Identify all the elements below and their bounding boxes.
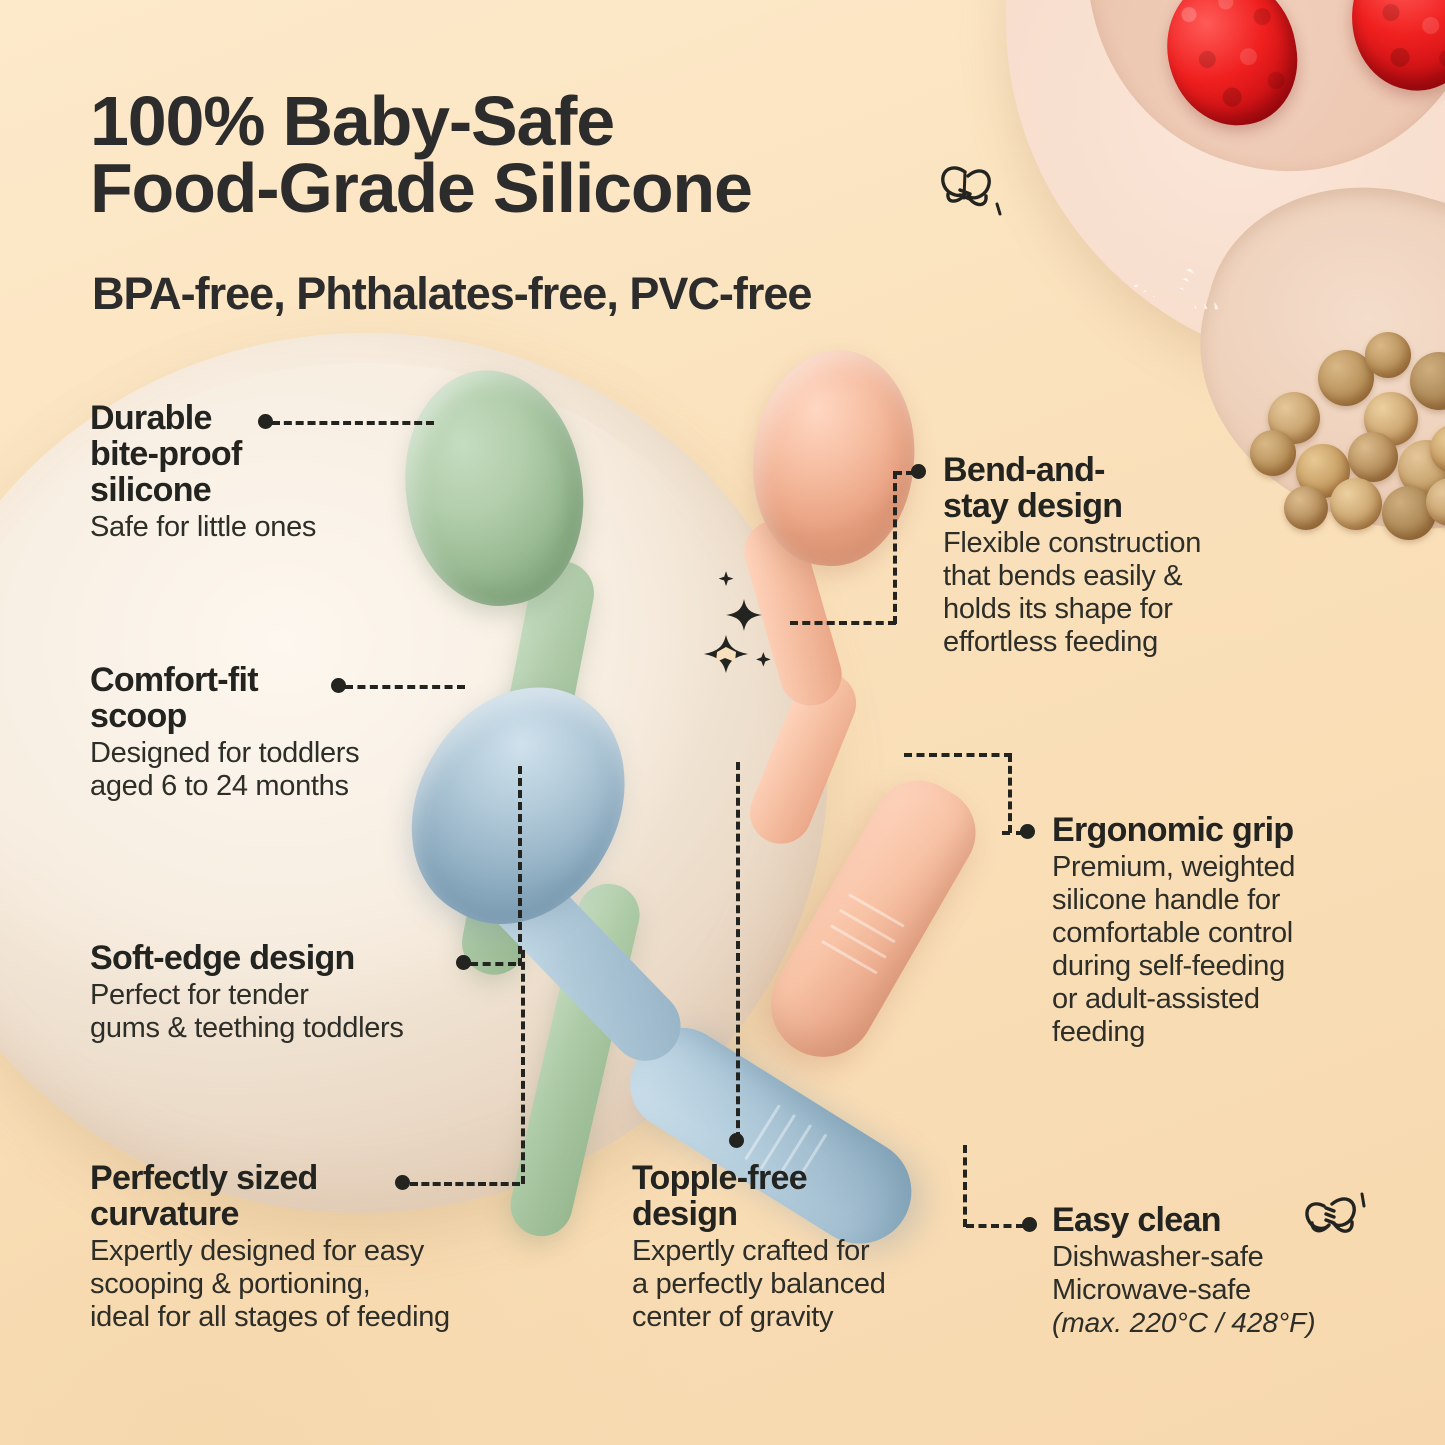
connector-line bbox=[904, 753, 1012, 757]
connector-line bbox=[966, 1224, 1024, 1228]
page-title: 100% Baby-Safe Food-Grade Silicone bbox=[90, 88, 752, 222]
connector-dot bbox=[1022, 1217, 1037, 1232]
feature-description: Safe for little ones bbox=[90, 511, 420, 544]
connector-line bbox=[272, 421, 434, 425]
connector-line bbox=[345, 685, 465, 689]
connector-line bbox=[790, 621, 896, 625]
connector-line bbox=[521, 950, 525, 1184]
feature-description: Dishwasher-safe Microwave-safe bbox=[1052, 1241, 1382, 1307]
feature-note: (max. 220°C / 428°F) bbox=[1052, 1307, 1382, 1339]
connector-line bbox=[963, 1145, 967, 1227]
connector-line bbox=[470, 962, 516, 966]
feature-topple-free-design: Topple-free design Expertly crafted for … bbox=[632, 1160, 962, 1334]
feature-description: Premium, weighted silicone handle for co… bbox=[1052, 851, 1382, 1049]
feature-title: Topple-free design bbox=[632, 1160, 962, 1232]
butterfly-icon bbox=[935, 160, 1005, 231]
connector-dot bbox=[331, 678, 346, 693]
cereal-puff bbox=[1348, 432, 1398, 482]
connector-dot bbox=[258, 414, 273, 429]
connector-line bbox=[518, 766, 522, 966]
feature-title: Soft-edge design bbox=[90, 940, 510, 976]
connector-dot bbox=[395, 1175, 410, 1190]
feature-description: Flexible construction that bends easily … bbox=[943, 527, 1273, 659]
feature-comfort-fit-scoop: Comfort-fit scoop Designed for toddlers … bbox=[90, 662, 430, 803]
cereal-puff bbox=[1365, 332, 1411, 378]
feature-easy-clean: Easy clean Dishwasher-safe Microwave-saf… bbox=[1052, 1202, 1382, 1339]
feature-title: Comfort-fit scoop bbox=[90, 662, 430, 734]
feature-title: Easy clean bbox=[1052, 1202, 1382, 1238]
connector-dot bbox=[456, 955, 471, 970]
cereal-puff bbox=[1330, 478, 1382, 530]
connector-line bbox=[1002, 831, 1024, 835]
connector-line bbox=[893, 471, 897, 624]
headline-line-1: 100% Baby-Safe bbox=[90, 88, 752, 155]
feature-title: Bend-and- stay design bbox=[943, 452, 1273, 524]
sparkle-icon bbox=[700, 565, 796, 675]
headline-subtitle: BPA-free, Phthalates-free, PVC-free bbox=[92, 268, 811, 320]
cereal-puff bbox=[1284, 486, 1328, 530]
feature-description: Expertly designed for easy scooping & po… bbox=[90, 1235, 560, 1334]
connector-line bbox=[1008, 754, 1012, 833]
feature-perfectly-sized-curvature: Perfectly sized curvature Expertly desig… bbox=[90, 1160, 560, 1334]
feature-description: Perfect for tender gums & teething toddl… bbox=[90, 979, 510, 1045]
headline-line-2: Food-Grade Silicone bbox=[90, 155, 752, 222]
connector-line bbox=[410, 1182, 520, 1186]
feature-title: Ergonomic grip bbox=[1052, 812, 1382, 848]
feature-description: Designed for toddlers aged 6 to 24 month… bbox=[90, 737, 430, 803]
connector-line bbox=[736, 762, 740, 1140]
feature-title: Durable bite-proof silicone bbox=[90, 400, 420, 508]
feature-soft-edge-design: Soft-edge design Perfect for tender gums… bbox=[90, 940, 510, 1045]
feature-ergonomic-grip: Ergonomic grip Premium, weighted silicon… bbox=[1052, 812, 1382, 1049]
feature-title: Perfectly sized curvature bbox=[90, 1160, 560, 1232]
feature-bend-and-stay-design: Bend-and- stay design Flexible construct… bbox=[943, 452, 1273, 659]
infographic-canvas: 100% Baby-Safe Food-Grade Silicone BPA-f… bbox=[0, 0, 1445, 1445]
connector-line bbox=[894, 471, 914, 475]
feature-description: Expertly crafted for a perfectly balance… bbox=[632, 1235, 962, 1334]
